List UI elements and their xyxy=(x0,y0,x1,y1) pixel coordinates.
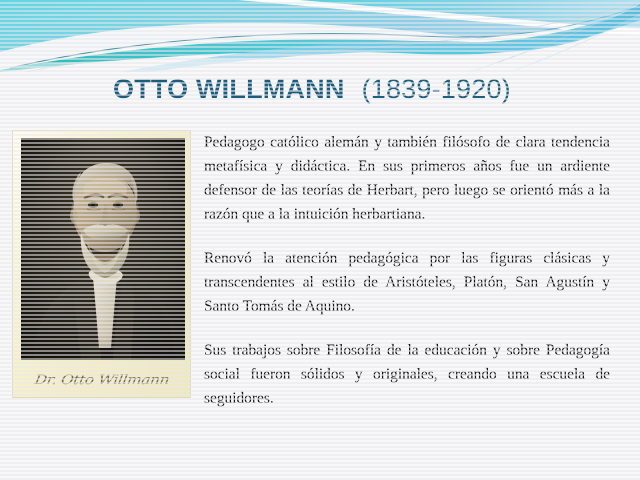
portrait-frame: Dr. Otto Willmann xyxy=(13,131,190,397)
portrait-signature: Dr. Otto Willmann xyxy=(13,363,190,397)
paragraph-2: Renovó la atención pedagógica por las fi… xyxy=(204,247,610,319)
slide-canvas: OTTO WILLMANN(1839-1920) xyxy=(0,0,640,480)
page-title: OTTO WILLMANN(1839-1920) xyxy=(113,74,511,105)
wave-banner-svg xyxy=(0,0,640,72)
title-person-name: OTTO WILLMANN xyxy=(113,74,345,104)
portrait-signature-text: Dr. Otto Willmann xyxy=(33,373,170,388)
portrait-photo xyxy=(21,138,185,360)
body-copy: Pedagogo católico alemán y también filós… xyxy=(204,131,610,411)
paragraph-3: Sus trabajos sobre Filosofía de la educa… xyxy=(204,339,610,411)
portrait-photo-svg xyxy=(21,138,185,360)
wave-banner-decoration xyxy=(0,0,640,72)
paragraph-1: Pedagogo católico alemán y también filós… xyxy=(204,131,610,227)
title-life-years: (1839-1920) xyxy=(362,74,511,104)
